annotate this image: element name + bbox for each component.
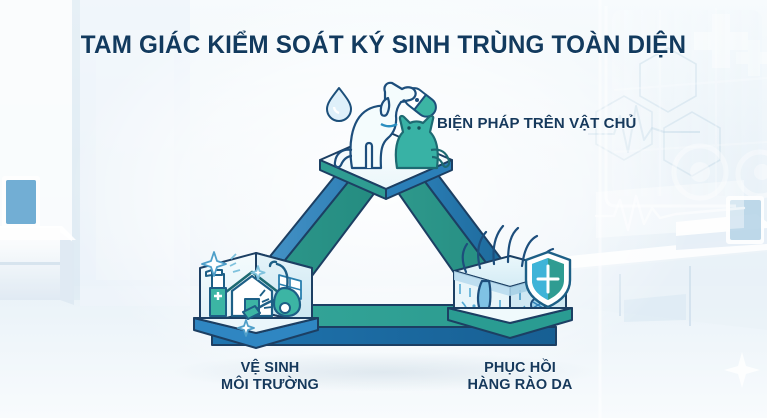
node-label-environment-line1: VỆ SINH — [185, 360, 355, 377]
infographic-canvas: TAM GIÁC KIỂM SOÁT KÝ SINH TRÙNG TOÀN DI… — [0, 0, 767, 418]
triangle-diagram — [0, 0, 767, 418]
node-label-environment-line2: MÔI TRƯỜNG — [185, 377, 355, 394]
node-environment[interactable] — [194, 252, 318, 348]
node-label-host: BIỆN PHÁP TRÊN VẬT CHỦ — [437, 115, 636, 132]
node-label-skin-barrier-line2: HÀNG RÀO DA — [425, 377, 615, 394]
node-label-skin-barrier: PHỤC HỒI HÀNG RÀO DA — [425, 360, 615, 394]
water-drop-icon — [327, 88, 351, 121]
node-label-skin-barrier-line1: PHỤC HỒI — [425, 360, 615, 377]
node-label-environment: VỆ SINH MÔI TRƯỜNG — [185, 360, 355, 394]
